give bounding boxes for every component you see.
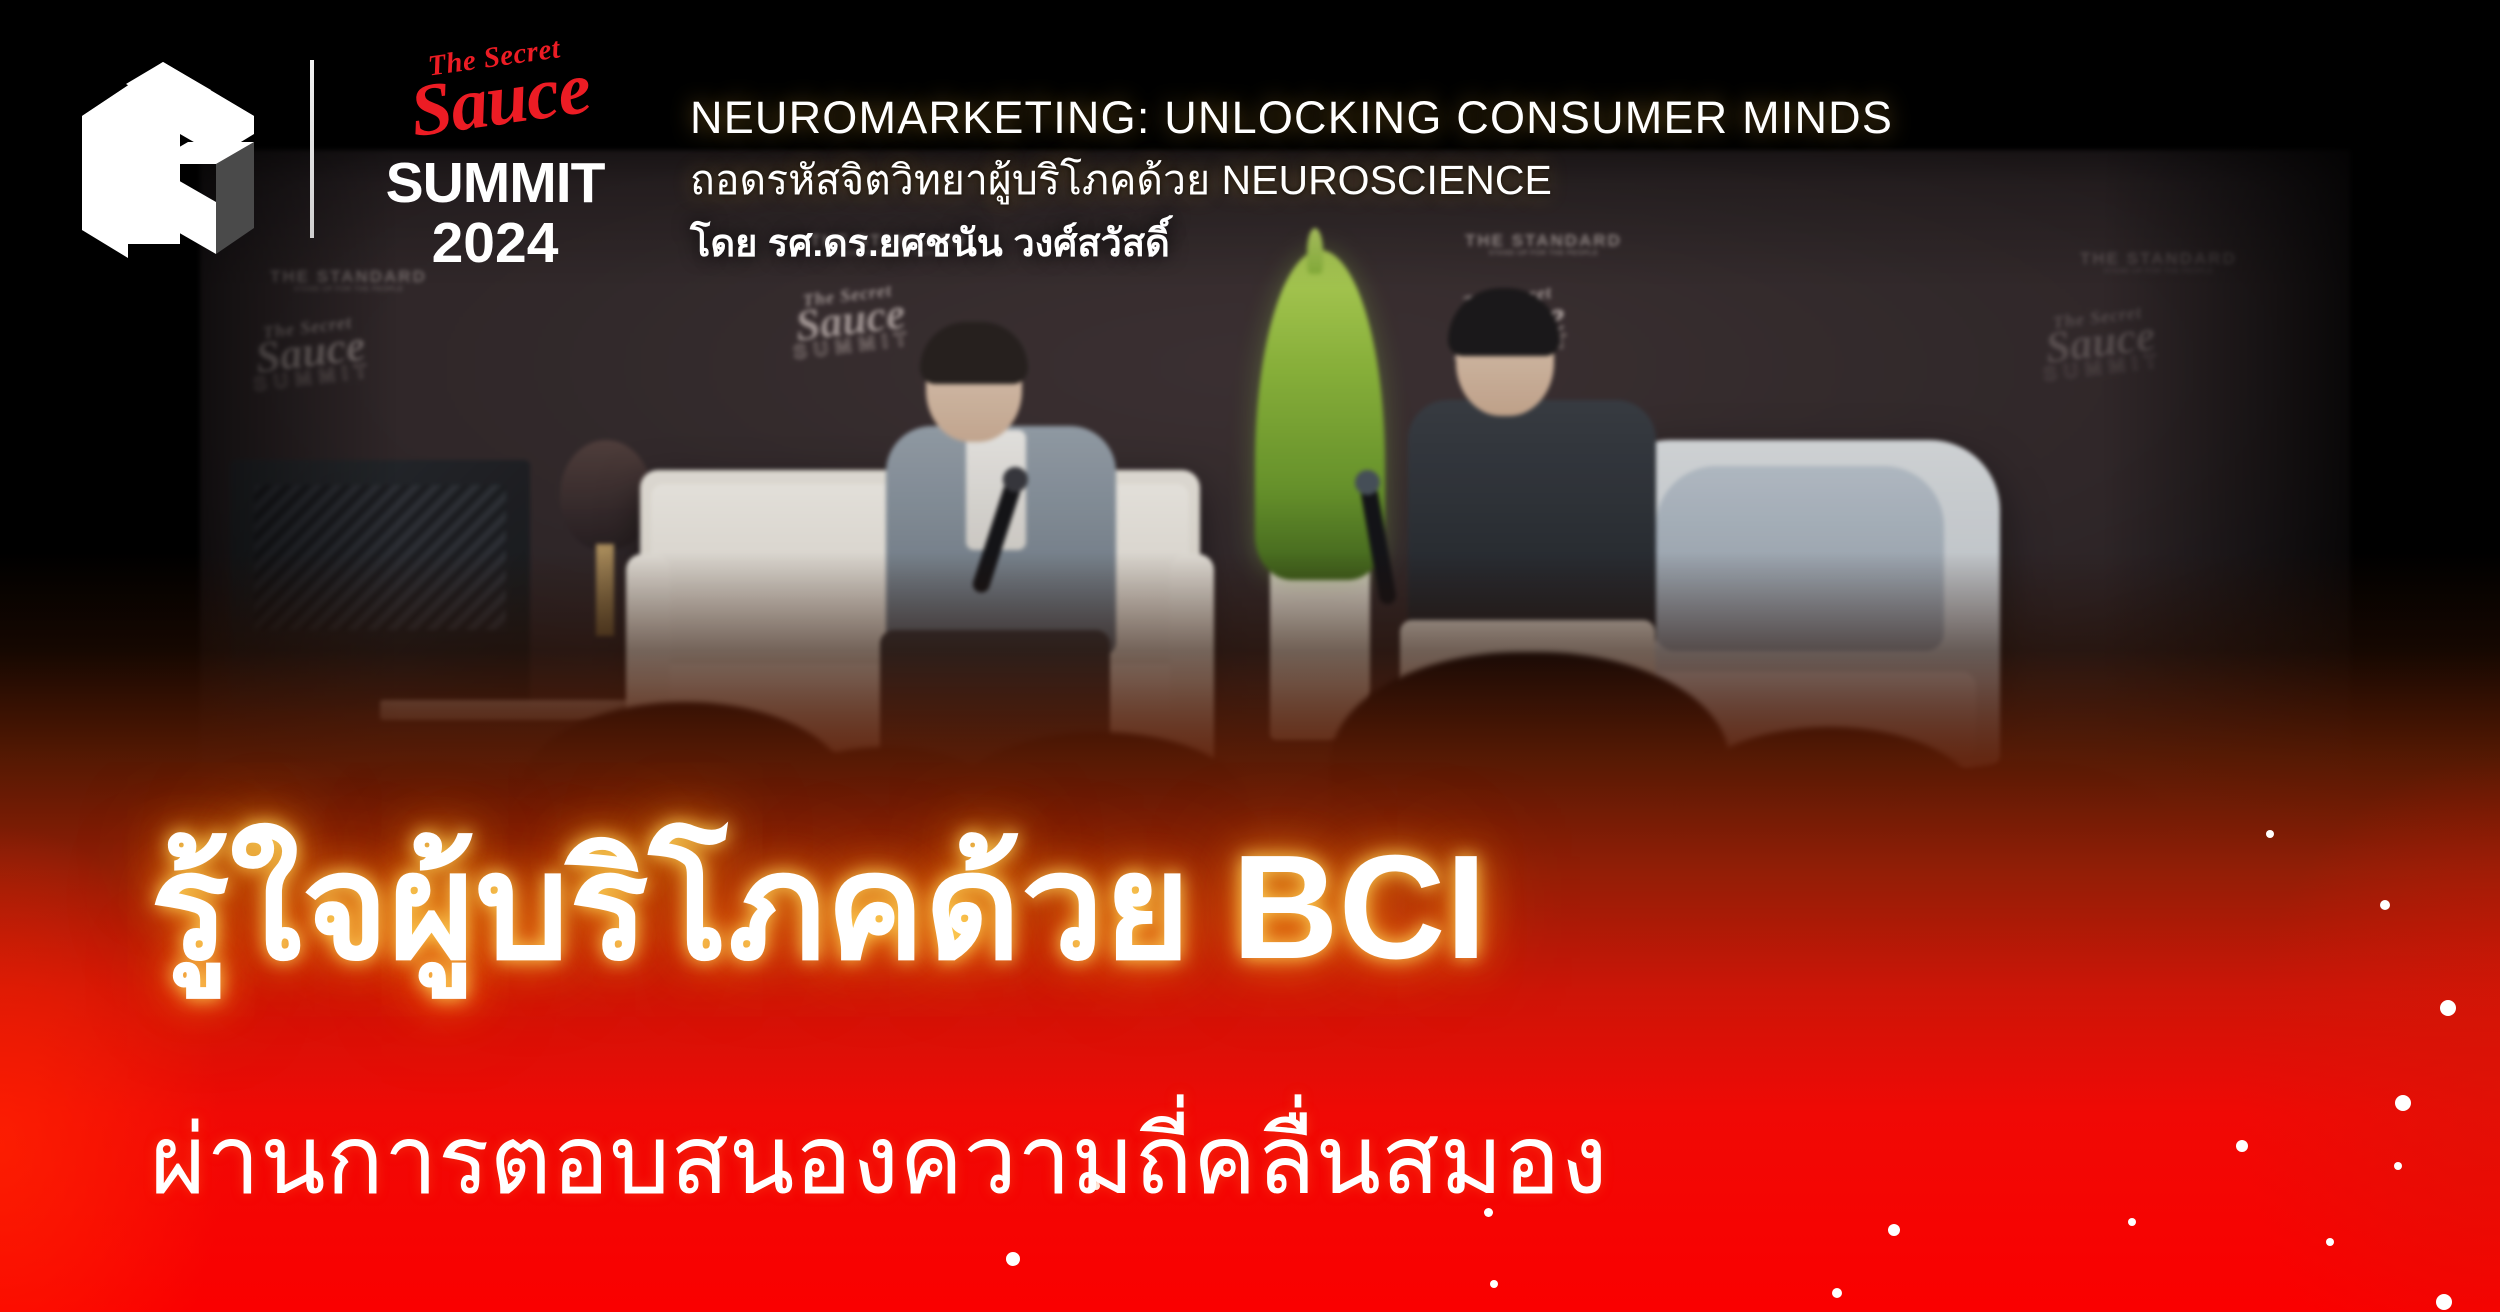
summit-label: SUMMIT xyxy=(360,156,630,211)
sparkle-dot xyxy=(1832,1288,1842,1298)
the-standard-logo-icon[interactable] xyxy=(68,58,258,258)
secret-sauce-summit-logo[interactable]: The Secret Sauce SUMMIT 2024 xyxy=(360,46,630,256)
year-label: 2024 xyxy=(360,216,630,271)
sub-headline: ผ่านการตอบสนองความถี่คลื่นสมอง xyxy=(150,1108,2430,1214)
session-speaker-name: โดย รศ.ดร.ยศชนัน วงศ์สวัสดิ์ xyxy=(690,216,2390,273)
brand-divider xyxy=(310,60,314,238)
main-headline: รู้ใจผู้บริโภคด้วย BCI xyxy=(150,828,2430,988)
session-title-thai: ถอดรหัสจิตวิทยาผู้บริโภคด้วย NEUROSCIENC… xyxy=(690,150,2390,212)
sparkle-dot xyxy=(2128,1218,2136,1226)
sparkle-dot xyxy=(2436,1294,2452,1310)
secret-sauce-script: The Secret Sauce xyxy=(364,28,636,169)
sparkle-dot xyxy=(2440,1000,2456,1016)
sparkle-dot xyxy=(1006,1252,1020,1266)
session-title-english: NEUROMARKETING: UNLOCKING CONSUMER MINDS xyxy=(690,88,2390,148)
session-title-block: NEUROMARKETING: UNLOCKING CONSUMER MINDS… xyxy=(690,88,2390,273)
sparkle-dot xyxy=(1490,1280,1498,1288)
sparkle-dot xyxy=(1888,1224,1900,1236)
sparkle-dot xyxy=(2326,1238,2334,1246)
thumbnail-canvas: THE STANDARD STAND UP FOR THE PEOPLE The… xyxy=(0,0,2500,1312)
